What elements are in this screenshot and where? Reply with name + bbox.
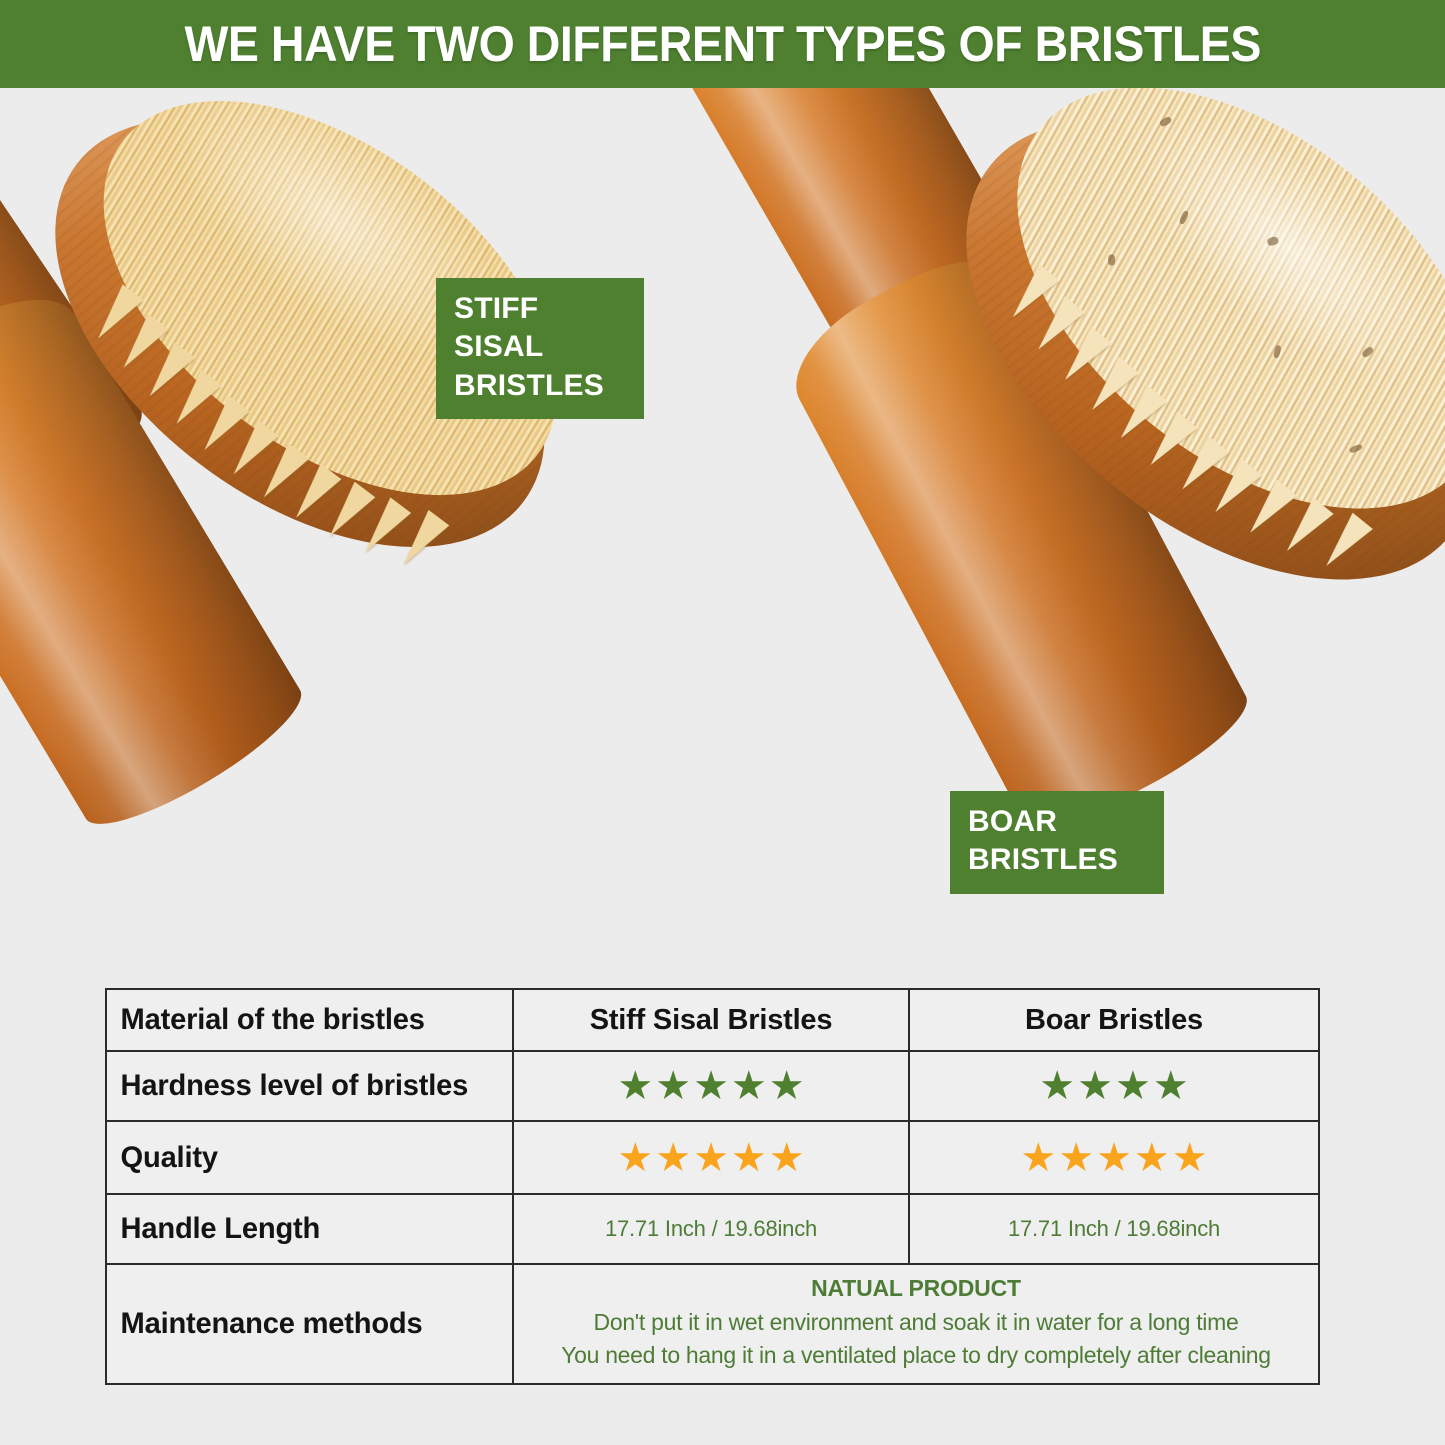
star-icon: ★ <box>1153 1066 1189 1106</box>
star-icon: ★ <box>1077 1066 1113 1106</box>
value-material-sisal: Stiff Sisal Bristles <box>590 1004 833 1036</box>
cell-quality-col2: ★★★★★ <box>909 1121 1319 1194</box>
callout-label-stiff-sisal: STIFF SISAL BRISTLES <box>436 278 644 419</box>
value-material-boar: Boar Bristles <box>1025 1004 1203 1036</box>
brush-photo-boar <box>700 88 1445 848</box>
star-rating-quality-sisal: ★★★★★ <box>522 1138 900 1178</box>
star-rating-hardness-boar: ★★★★ <box>918 1066 1310 1106</box>
star-icon: ★ <box>693 1138 729 1178</box>
cell-maintenance-merged: NATUAL PRODUCT Don't put it in wet envir… <box>513 1264 1319 1384</box>
table-row-hardness: Hardness level of bristles ★★★★★ ★★★★ <box>106 1051 1319 1121</box>
star-icon: ★ <box>655 1066 691 1106</box>
star-icon: ★ <box>1096 1138 1132 1178</box>
cell-material-col1: Stiff Sisal Bristles <box>513 989 909 1051</box>
star-icon: ★ <box>655 1138 691 1178</box>
star-rating-quality-boar: ★★★★★ <box>918 1138 1310 1178</box>
cell-material-col2: Boar Bristles <box>909 989 1319 1051</box>
brush-photo-stiff-sisal <box>0 88 670 808</box>
table-row-material: Material of the bristles Stiff Sisal Bri… <box>106 989 1319 1051</box>
row-label-handle-length: Handle Length <box>106 1194 501 1264</box>
callout-label-boar: BOAR BRISTLES <box>950 791 1164 894</box>
star-icon: ★ <box>693 1066 729 1106</box>
star-icon: ★ <box>769 1138 805 1178</box>
row-label-quality: Quality <box>106 1121 501 1194</box>
cell-handle-length-col2: 17.71 Inch / 19.68inch <box>909 1194 1319 1264</box>
star-icon: ★ <box>1020 1138 1056 1178</box>
maintenance-line-1: Don't put it in wet environment and soak… <box>524 1306 1308 1339</box>
star-icon: ★ <box>731 1138 767 1178</box>
cell-handle-length-col1: 17.71 Inch / 19.68inch <box>513 1194 909 1264</box>
cell-quality-col1: ★★★★★ <box>513 1121 909 1194</box>
maintenance-line-2: You need to hang it in a ventilated plac… <box>524 1339 1308 1372</box>
star-icon: ★ <box>1134 1138 1170 1178</box>
star-icon: ★ <box>1058 1138 1094 1178</box>
value-handle-length-boar: 17.71 Inch / 19.68inch <box>1008 1216 1220 1241</box>
page-title: WE HAVE TWO DIFFERENT TYPES OF BRISTLES <box>184 15 1260 73</box>
value-handle-length-sisal: 17.71 Inch / 19.68inch <box>605 1216 817 1241</box>
star-icon: ★ <box>617 1138 653 1178</box>
star-icon: ★ <box>1115 1066 1151 1106</box>
product-photo-area: STIFF SISAL BRISTLES BOAR BRISTLES <box>0 88 1445 958</box>
star-icon: ★ <box>769 1066 805 1106</box>
row-label-maintenance: Maintenance methods <box>106 1264 501 1384</box>
cell-hardness-col1: ★★★★★ <box>513 1051 909 1121</box>
star-icon: ★ <box>1039 1066 1075 1106</box>
table-row-handle-length: Handle Length 17.71 Inch / 19.68inch 17.… <box>106 1194 1319 1264</box>
star-icon: ★ <box>617 1066 653 1106</box>
table-row-maintenance: Maintenance methods NATUAL PRODUCT Don't… <box>106 1264 1319 1384</box>
cell-hardness-col2: ★★★★ <box>909 1051 1319 1121</box>
comparison-table: Material of the bristles Stiff Sisal Bri… <box>105 988 1320 1385</box>
star-rating-hardness-sisal: ★★★★★ <box>522 1066 900 1106</box>
star-icon: ★ <box>1172 1138 1208 1178</box>
maintenance-title: NATUAL PRODUCT <box>524 1275 1308 1302</box>
row-label-hardness: Hardness level of bristles <box>106 1051 501 1121</box>
header-banner: WE HAVE TWO DIFFERENT TYPES OF BRISTLES <box>0 0 1445 88</box>
comparison-table-wrapper: Material of the bristles Stiff Sisal Bri… <box>105 988 1318 1385</box>
row-label-material: Material of the bristles <box>106 989 501 1051</box>
star-icon: ★ <box>731 1066 767 1106</box>
table-row-quality: Quality ★★★★★ ★★★★★ <box>106 1121 1319 1194</box>
